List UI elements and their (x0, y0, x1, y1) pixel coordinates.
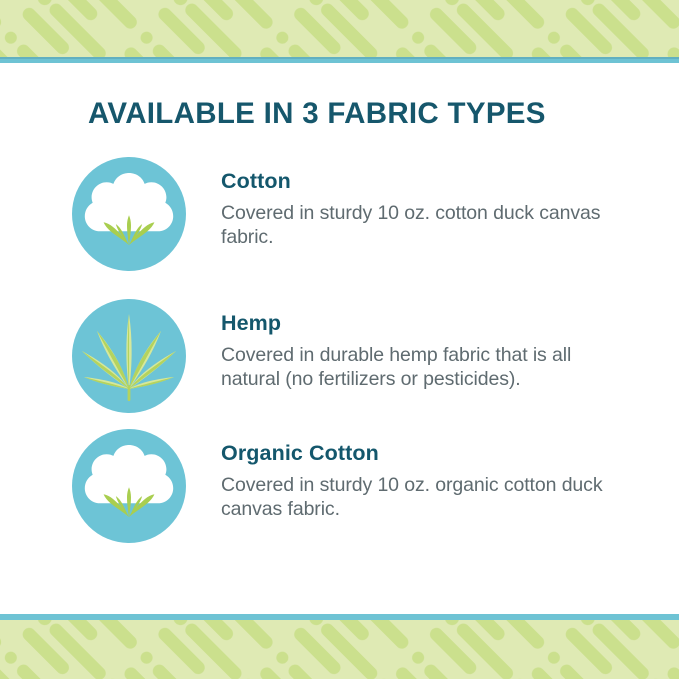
cotton-boll-icon (70, 155, 188, 273)
infographic-poster: AVAILABLE IN 3 FABRIC TYPES (0, 0, 679, 679)
page-title: AVAILABLE IN 3 FABRIC TYPES (88, 97, 546, 131)
bottom-decorative-band (0, 620, 679, 679)
fabric-text-block: Cotton Covered in sturdy 10 oz. cotton d… (188, 155, 613, 249)
fabric-name: Cotton (221, 170, 613, 194)
fabric-text-block: Organic Cotton Covered in sturdy 10 oz. … (188, 427, 613, 521)
fabric-description: Covered in sturdy 10 oz. organic cotton … (221, 473, 613, 521)
content-area: AVAILABLE IN 3 FABRIC TYPES (0, 63, 679, 614)
hemp-leaf-icon-graphic (70, 297, 188, 415)
cotton-boll-icon-graphic (70, 155, 188, 273)
list-item: Organic Cotton Covered in sturdy 10 oz. … (0, 427, 679, 545)
top-rule-shadow (0, 57, 679, 59)
fabric-description: Covered in sturdy 10 oz. cotton duck can… (221, 201, 613, 249)
hemp-leaf-icon (70, 297, 188, 415)
fabric-name: Organic Cotton (221, 442, 613, 466)
diagonal-stripe-pattern-bottom (0, 620, 679, 679)
list-item: Hemp Covered in durable hemp fabric that… (0, 297, 679, 415)
cotton-boll-icon-graphic (70, 427, 188, 545)
list-item: Cotton Covered in sturdy 10 oz. cotton d… (0, 155, 679, 273)
fabric-description: Covered in durable hemp fabric that is a… (221, 343, 613, 391)
diagonal-stripe-pattern-top (0, 0, 679, 57)
cotton-boll-icon (70, 427, 188, 545)
fabric-text-block: Hemp Covered in durable hemp fabric that… (188, 297, 613, 391)
fabric-name: Hemp (221, 312, 613, 336)
top-decorative-band (0, 0, 679, 57)
fabric-type-list: Cotton Covered in sturdy 10 oz. cotton d… (0, 155, 679, 545)
